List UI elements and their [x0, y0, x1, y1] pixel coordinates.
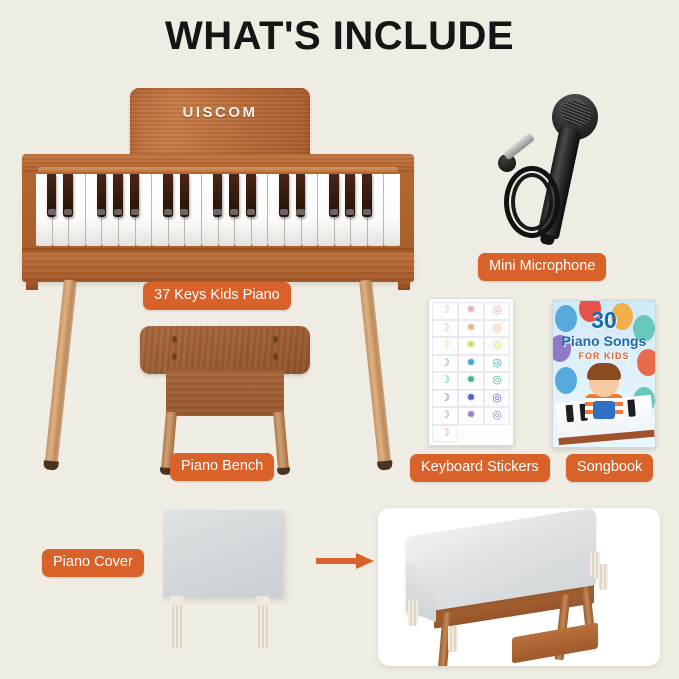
bench-leg-right [273, 412, 289, 471]
inset-tassel [448, 626, 458, 652]
piano-white-key[interactable] [384, 174, 400, 246]
star-icon: ✹ [466, 393, 475, 404]
circle-icon: ◎ [492, 305, 502, 316]
moon-icon: ☽ [440, 340, 450, 351]
flow-arrow-icon [316, 553, 378, 569]
moon-icon: ☽ [440, 410, 450, 421]
piano-keys [36, 174, 400, 246]
circle-icon: ◎ [492, 393, 502, 404]
circle-icon: ◎ [492, 375, 502, 386]
badge-piano: 37 Keys Kids Piano [143, 282, 291, 310]
circle-sticker-icon: ◎ [484, 302, 510, 320]
infographic-canvas: WHAT'S INCLUDE UISCOM 37 Keys Kids Piano [0, 0, 679, 679]
piano-black-key[interactable] [246, 174, 256, 217]
moon-icon: ☽ [440, 358, 450, 369]
piano-black-key[interactable] [63, 174, 73, 217]
piano-black-key[interactable] [213, 174, 223, 217]
piano-keybed [22, 172, 414, 254]
circle-icon: ◎ [492, 358, 502, 369]
microphone-cable-inner [511, 173, 553, 231]
bench-screw [273, 336, 278, 343]
moon-sticker-icon: ☽ [432, 302, 458, 320]
moon-icon: ☽ [440, 428, 450, 439]
arrow-shaft [316, 558, 360, 564]
cover-tassel-right [255, 596, 270, 648]
star-icon: ✹ [466, 305, 475, 316]
moon-sticker-icon: ☽ [432, 425, 458, 443]
piano-white-key[interactable] [318, 174, 335, 246]
arrow-head [356, 553, 374, 569]
piano-black-key[interactable] [229, 174, 239, 217]
badge-bench: Piano Bench [170, 453, 274, 481]
piano-white-key[interactable] [86, 174, 103, 246]
circle-sticker-icon: ◎ [484, 372, 510, 390]
songbook-black-key [566, 405, 574, 423]
songbook-subtitle: FOR KIDS [553, 351, 655, 361]
bench-screw [273, 353, 278, 360]
piano-black-key[interactable] [97, 174, 107, 217]
songbook-kid-overalls [593, 401, 615, 419]
star-sticker-icon: ✹ [458, 390, 484, 408]
apron-tab-right [398, 281, 410, 290]
piano-black-key[interactable] [362, 174, 372, 217]
songbook-title: Piano Songs [553, 333, 655, 349]
cover-cloth [163, 510, 283, 598]
balloon [555, 367, 577, 394]
moon-sticker-icon: ☽ [432, 320, 458, 338]
tassel-strands [256, 606, 269, 648]
songbook-illustration: 30 Piano Songs FOR KIDS [552, 300, 656, 448]
inset-tassel [408, 600, 418, 626]
sticker-cell-empty [458, 425, 484, 443]
piano-white-key[interactable] [202, 174, 219, 246]
bench-screw [172, 336, 177, 343]
piano-black-key[interactable] [163, 174, 173, 217]
piano-bench-illustration [140, 326, 310, 471]
piano-leg-right [359, 279, 391, 464]
badge-stickers: Keyboard Stickers [410, 454, 550, 482]
star-sticker-icon: ✹ [458, 320, 484, 338]
star-icon: ✹ [466, 375, 475, 386]
moon-icon: ☽ [440, 323, 450, 334]
songbook-number: 30 [553, 307, 655, 334]
star-icon: ✹ [466, 340, 475, 351]
apron-tab-left [26, 281, 38, 290]
microphone-plug [503, 132, 535, 160]
apron-lip [22, 248, 414, 253]
piano-leg-left [45, 279, 77, 464]
star-sticker-icon: ✹ [458, 355, 484, 373]
piano-black-key[interactable] [345, 174, 355, 217]
piano-black-key[interactable] [279, 174, 289, 217]
brand-logo: UISCOM [130, 104, 310, 121]
circle-icon: ◎ [492, 340, 502, 351]
microphone-grille [558, 97, 595, 130]
music-stand: UISCOM [130, 88, 310, 160]
tassel-strands [170, 606, 183, 648]
tassel-knot [169, 596, 184, 606]
covered-piano-inset-photo [378, 508, 660, 666]
star-sticker-icon: ✹ [458, 407, 484, 425]
circle-sticker-icon: ◎ [484, 390, 510, 408]
inset-tassel [598, 564, 608, 590]
bench-seat [140, 326, 310, 374]
piano-front-apron [22, 248, 414, 282]
star-icon: ✹ [466, 323, 475, 334]
sticker-cell-empty [484, 425, 510, 443]
star-icon: ✹ [466, 358, 475, 369]
piano-white-key[interactable] [36, 174, 53, 246]
page-title: WHAT'S INCLUDE [0, 14, 679, 59]
keyboard-stickers-sheet: ☽✹◎☽✹◎☽✹◎☽✹◎☽✹◎☽✹◎☽✹◎☽ [428, 298, 514, 446]
songbook-black-key [627, 399, 635, 417]
circle-sticker-icon: ◎ [484, 320, 510, 338]
cover-tassel-left [169, 596, 184, 648]
circle-sticker-icon: ◎ [484, 337, 510, 355]
bench-front-panel [166, 370, 284, 416]
circle-icon: ◎ [492, 323, 502, 334]
star-sticker-icon: ✹ [458, 337, 484, 355]
piano-black-key[interactable] [329, 174, 339, 217]
moon-sticker-icon: ☽ [432, 390, 458, 408]
circle-sticker-icon: ◎ [484, 407, 510, 425]
moon-sticker-icon: ☽ [432, 372, 458, 390]
moon-icon: ☽ [440, 375, 450, 386]
mini-microphone-illustration [492, 92, 604, 252]
piano-black-key[interactable] [130, 174, 140, 217]
piano-white-key[interactable] [152, 174, 169, 246]
star-icon: ✹ [466, 410, 475, 421]
piano-white-key[interactable] [268, 174, 285, 246]
bench-screw [172, 353, 177, 360]
badge-microphone: Mini Microphone [478, 253, 606, 281]
piano-black-key[interactable] [296, 174, 306, 217]
piano-black-key[interactable] [47, 174, 57, 217]
moon-sticker-icon: ☽ [432, 337, 458, 355]
badge-cover: Piano Cover [42, 549, 144, 577]
piano-cover-illustration [163, 510, 291, 662]
star-sticker-icon: ✹ [458, 302, 484, 320]
piano-black-key[interactable] [180, 174, 190, 217]
songbook-kid-hair [587, 363, 621, 380]
circle-sticker-icon: ◎ [484, 355, 510, 373]
badge-songbook: Songbook [566, 454, 653, 482]
moon-icon: ☽ [440, 305, 450, 316]
piano-black-key[interactable] [113, 174, 123, 217]
moon-sticker-icon: ☽ [432, 407, 458, 425]
star-sticker-icon: ✹ [458, 372, 484, 390]
moon-icon: ☽ [440, 393, 450, 404]
circle-icon: ◎ [492, 410, 502, 421]
tassel-knot [255, 596, 270, 606]
moon-sticker-icon: ☽ [432, 355, 458, 373]
